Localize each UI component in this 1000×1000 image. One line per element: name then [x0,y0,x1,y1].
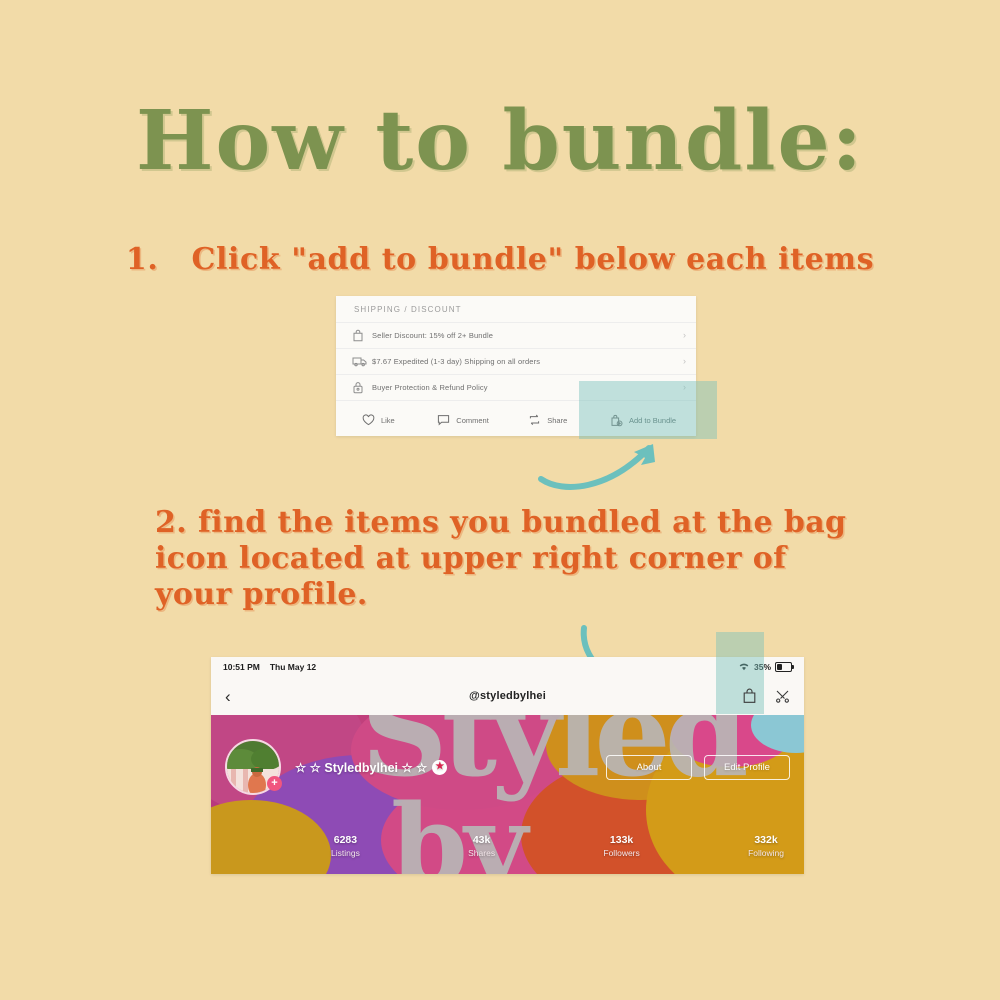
stat-label: Followers [603,848,639,858]
tools-icon[interactable] [775,689,790,704]
lock-icon [352,380,372,396]
about-button[interactable]: About [606,755,692,780]
profile-cover-banner: Styled by [211,715,804,874]
like-button[interactable]: Like [336,414,421,426]
avatar[interactable]: + [225,739,281,795]
action-label: Comment [456,416,489,425]
row-label: Seller Discount: 15% off 2+ Bundle [372,331,493,340]
profile-buttons: About Edit Profile [606,755,790,780]
profile-display-name: ☆ ☆ Styledbylhei ☆ ☆ ★ [295,760,447,775]
stat-label: Listings [331,848,360,858]
share-icon [528,414,541,426]
arrow-to-add-to-bundle [537,432,682,494]
stat-listings[interactable]: 6283 Listings [331,834,360,858]
status-date: Thu May 12 [270,662,316,672]
bag-icon [352,328,372,344]
profile-identity-row: + ☆ ☆ Styledbylhei ☆ ☆ ★ About Edit Prof… [211,737,804,797]
add-avatar-badge[interactable]: + [267,776,282,791]
row-seller-discount[interactable]: Seller Discount: 15% off 2+ Bundle › [336,322,696,348]
stat-value: 332k [748,834,784,846]
step-1-text: 1. Click "add to bundle" below each item… [0,240,1000,280]
chevron-right-icon: › [683,331,686,340]
share-button[interactable]: Share [505,414,590,426]
profile-stats: 6283 Listings 43k Shares 133k Followers … [331,834,784,858]
chevron-right-icon: › [683,357,686,366]
status-time: 10:51 PM [223,662,260,672]
row-label: Buyer Protection & Refund Policy [372,383,488,392]
stat-value: 133k [603,834,639,846]
stat-following[interactable]: 332k Following [748,834,784,858]
heart-icon [362,414,375,426]
display-name-text: ☆ ☆ Styledbylhei ☆ ☆ [295,760,427,775]
action-label: Like [381,416,395,425]
stat-label: Shares [468,848,495,858]
stat-shares[interactable]: 43k Shares [468,834,495,858]
stat-value: 6283 [331,834,360,846]
shipping-discount-header: SHIPPING / DISCOUNT [336,296,696,322]
stat-followers[interactable]: 133k Followers [603,834,639,858]
truck-icon [352,354,372,370]
stat-label: Following [748,848,784,858]
battery-icon [775,662,792,672]
row-expedited-shipping[interactable]: $7.67 Expedited (1-3 day) Shipping on al… [336,348,696,374]
action-label: Share [547,416,567,425]
stat-value: 43k [468,834,495,846]
star-badge-icon: ★ [432,760,447,775]
poster-canvas: How to bundle: 1. Click "add to bundle" … [0,0,1000,1000]
page-title: How to bundle: [0,96,1000,186]
bag-icon[interactable] [742,688,757,704]
comment-icon [437,414,450,426]
row-label: $7.67 Expedited (1-3 day) Shipping on al… [372,357,540,366]
edit-profile-button[interactable]: Edit Profile [704,755,790,780]
comment-button[interactable]: Comment [421,414,506,426]
step-2-text: 2. find the items you bundled at the bag… [155,505,855,613]
highlight-box-add-to-bundle [579,381,717,439]
